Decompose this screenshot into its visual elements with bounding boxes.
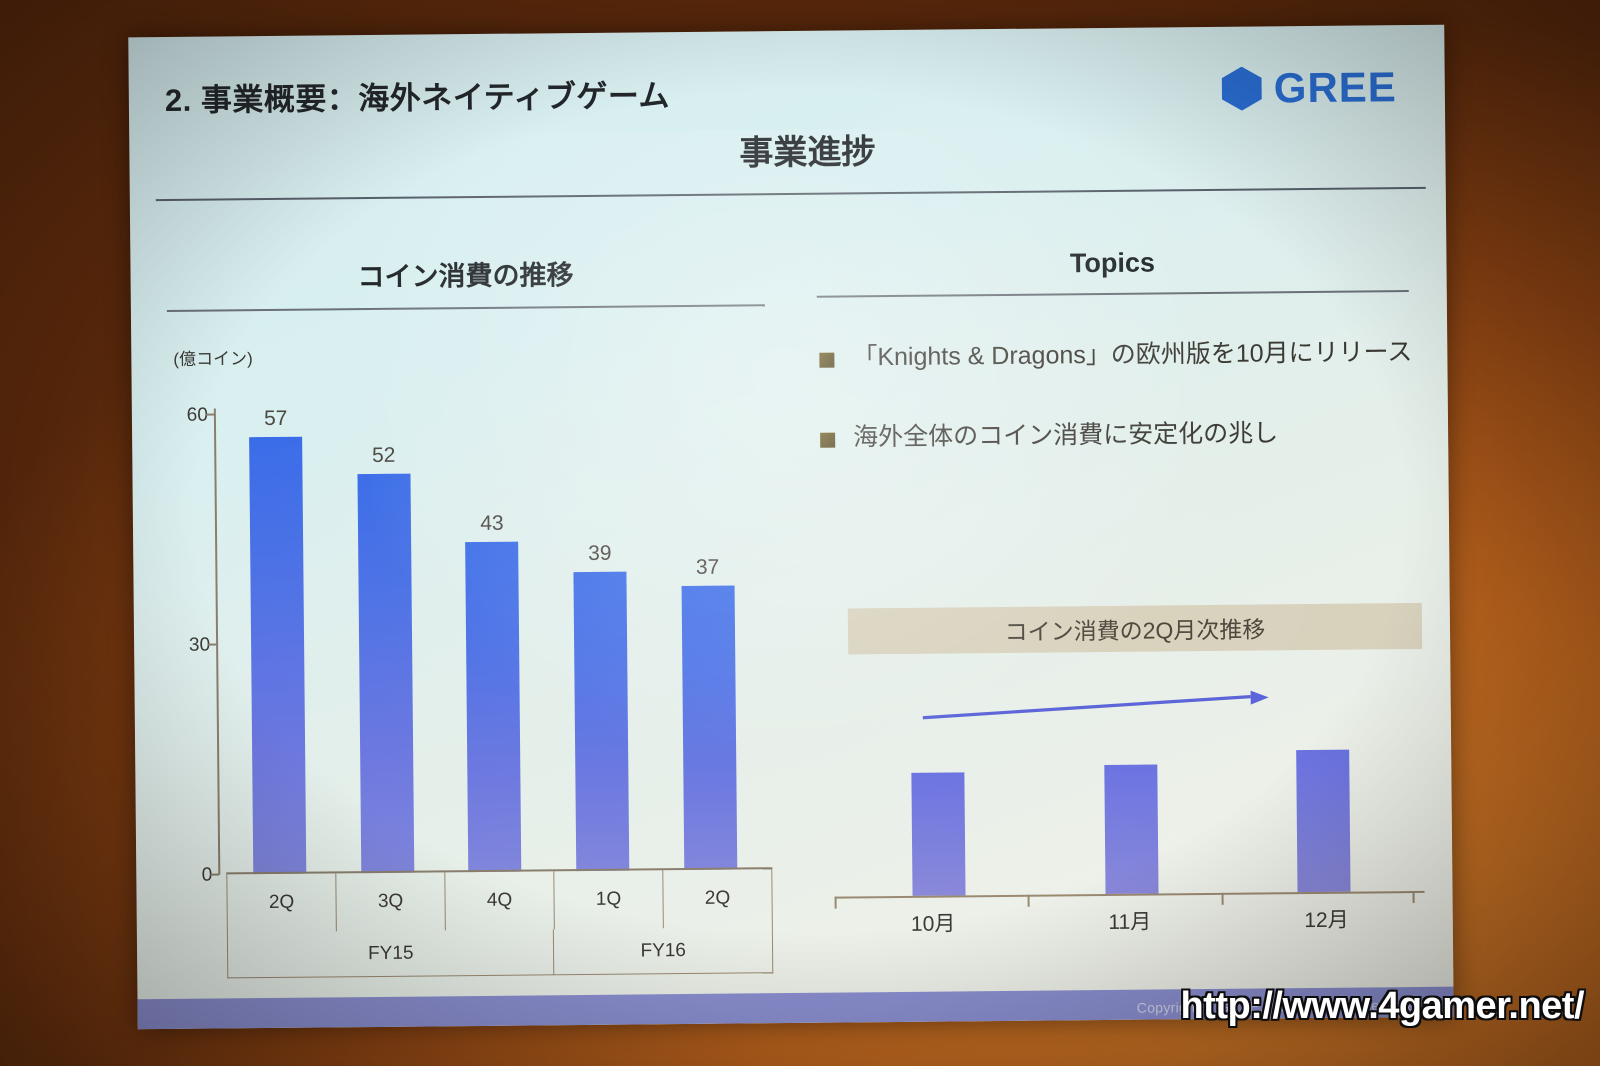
- y-tick-label: 60: [164, 405, 208, 427]
- bar: 37: [681, 586, 737, 870]
- bar: 52: [357, 474, 414, 873]
- monthly-bar: [911, 772, 965, 896]
- x-axis-quarter-cell: 4Q: [445, 871, 555, 930]
- projected-slide-wrapper: 2. 事業概要：海外ネイティブゲーム GREE 事業進捗 コイン消費の推移 (億…: [128, 25, 1453, 1030]
- monthly-tick: [1028, 895, 1030, 907]
- gree-logo: GREE: [1222, 65, 1397, 111]
- header-divider: [156, 187, 1426, 201]
- x-axis-quarter-cell: 1Q: [554, 870, 664, 929]
- x-axis-fiscal-year-row: FY15FY16: [228, 927, 772, 978]
- right-panel-heading: Topics: [802, 215, 1423, 282]
- gree-hexagon-icon: [1222, 66, 1262, 110]
- monthly-label: 12月: [1228, 903, 1425, 935]
- bar-value-label: 52: [372, 444, 396, 468]
- bar-slot: 57: [222, 413, 334, 874]
- bar-slot: 52: [329, 412, 441, 873]
- monthly-bar-series: [841, 701, 1421, 897]
- bar-value-label: 43: [480, 512, 504, 536]
- topic-item: 「Knights & Dragons」の欧州版を10月にリリース: [819, 335, 1417, 376]
- monthly-tick: [835, 897, 837, 909]
- topics-list: 「Knights & Dragons」の欧州版を10月にリリース海外全体のコイン…: [819, 335, 1418, 500]
- y-tick-mark: [206, 414, 215, 416]
- y-tick-label: 0: [168, 865, 212, 887]
- right-panel-divider: [817, 290, 1409, 298]
- monthly-chart-labels: 10月11月12月: [835, 903, 1425, 939]
- bar: 39: [574, 572, 630, 871]
- gree-wordmark: GREE: [1274, 66, 1397, 109]
- monthly-bar-slot: [841, 705, 1035, 897]
- monthly-bar-slot: [1033, 703, 1227, 895]
- y-axis-ticks: 03060: [168, 389, 768, 395]
- y-axis-line: [214, 409, 220, 875]
- x-axis-fiscal-year-cell: FY16: [554, 927, 772, 975]
- x-axis-fiscal-year-cell: FY15: [228, 929, 555, 978]
- topic-text: 海外全体のコイン消費に安定化の兆し: [853, 416, 1278, 456]
- bar-slot: 37: [652, 409, 764, 870]
- left-panel-divider: [167, 304, 765, 312]
- y-tick-label: 30: [166, 635, 210, 657]
- topic-text: 「Knights & Dragons」の欧州版を10月にリリース: [852, 335, 1412, 376]
- bullet-square-icon: [820, 432, 835, 447]
- x-axis-quarter-cell: 2Q: [663, 869, 772, 928]
- bar-slot: 43: [437, 411, 549, 872]
- monthly-trend-title: コイン消費の2Q月次推移: [848, 603, 1422, 655]
- coin-consumption-chart: 03060 5752433937: [168, 389, 773, 895]
- monthly-trend-panel: コイン消費の2Q月次推移 10月11月12月: [824, 603, 1425, 939]
- coin-consumption-panel: コイン消費の推移 (億コイン) 03060 5752433937 2Q3Q4Q1…: [152, 221, 785, 997]
- monthly-label: 10月: [835, 907, 1032, 939]
- monthly-tick: [1221, 893, 1223, 905]
- monthly-trend-chart: [832, 673, 1420, 897]
- site-watermark: http://www.4gamer.net/: [1180, 985, 1584, 1028]
- bar: 43: [466, 542, 522, 872]
- left-panel-heading: コイン消費の推移: [152, 221, 779, 296]
- monthly-tick: [1413, 891, 1415, 903]
- bullet-square-icon: [819, 353, 834, 368]
- bar: 57: [249, 437, 306, 874]
- bar-value-label: 57: [264, 407, 288, 431]
- monthly-bar-slot: [1226, 701, 1420, 893]
- bar-value-label: 39: [588, 542, 612, 566]
- bar-series: 5752433937: [222, 409, 764, 874]
- x-axis-table: 2Q3Q4Q1Q2Q FY15FY16: [226, 867, 773, 978]
- x-axis-quarter-cell: 3Q: [336, 872, 446, 931]
- chart-unit-label: (億コイン): [173, 344, 253, 370]
- bar-value-label: 37: [696, 556, 720, 580]
- monthly-bar: [1296, 749, 1350, 892]
- photo-background: 2. 事業概要：海外ネイティブゲーム GREE 事業進捗 コイン消費の推移 (億…: [0, 0, 1600, 1066]
- y-tick-mark: [208, 644, 217, 646]
- presentation-slide: 2. 事業概要：海外ネイティブゲーム GREE 事業進捗 コイン消費の推移 (億…: [128, 25, 1453, 1030]
- monthly-label: 11月: [1031, 905, 1228, 937]
- x-axis-quarter-cell: 2Q: [227, 873, 337, 932]
- monthly-bar: [1104, 764, 1158, 894]
- bar-slot: 39: [545, 410, 657, 871]
- y-tick-mark: [210, 874, 219, 876]
- topic-item: 海外全体のコイン消費に安定化の兆し: [820, 414, 1418, 455]
- topics-panel: Topics 「Knights & Dragons」の欧州版を10月にリリース海…: [802, 215, 1429, 991]
- x-axis-quarter-row: 2Q3Q4Q1Q2Q: [227, 869, 772, 932]
